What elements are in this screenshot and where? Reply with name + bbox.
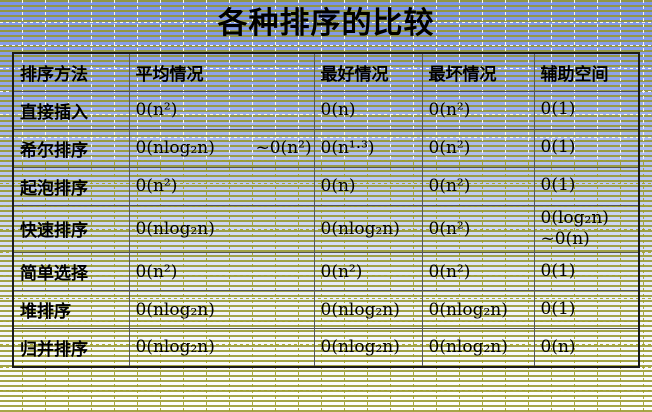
average-primary: 0(n²) [136, 262, 256, 282]
cell-average: 0(nlog₂n)~0(n²) [129, 129, 314, 167]
table-row: 堆排序0(nlog₂n)0(nlog₂n)0(nlog₂n)0(1) [13, 291, 639, 329]
cell-method: 希尔排序 [13, 129, 129, 167]
cell-best: 0(nlog₂n) [314, 291, 422, 329]
slide-title: 各种排序的比较 [0, 4, 652, 44]
cell-best: 0(n¹·³) [314, 129, 422, 167]
cell-best: 0(nlog₂n) [314, 205, 422, 253]
cell-method: 快速排序 [13, 205, 129, 253]
cell-worst: 0(n²) [422, 205, 534, 253]
header-method: 排序方法 [13, 53, 129, 91]
cell-worst: 0(n²) [422, 129, 534, 167]
cell-worst: 0(n²) [422, 253, 534, 291]
header-worst: 最坏情况 [422, 53, 534, 91]
cell-average: 0(nlog₂n) [129, 205, 314, 253]
cell-average: 0(n²) [129, 253, 314, 291]
cell-space: 0(n) [534, 329, 639, 367]
cell-space: 0(1) [534, 167, 639, 205]
cell-space: 0(log₂n)~0(n) [534, 205, 639, 253]
cell-worst: 0(nlog₂n) [422, 329, 534, 367]
cell-space: 0(1) [534, 91, 639, 129]
table-header-row: 排序方法 平均情况 最好情况 最坏情况 辅助空间 [13, 53, 639, 91]
cell-space: 0(1) [534, 253, 639, 291]
slide-canvas: 各种排序的比较 排序方法 平均情况 最好情况 最坏情况 辅助空间 直接插入0(n… [0, 0, 652, 412]
cell-worst: 0(n²) [422, 167, 534, 205]
space-primary: 0(1) [541, 137, 633, 158]
cell-average: 0(nlog₂n) [129, 329, 314, 367]
average-primary: 0(nlog₂n) [136, 300, 256, 320]
cell-method: 直接插入 [13, 91, 129, 129]
cell-worst: 0(n²) [422, 91, 534, 129]
cell-best: 0(n) [314, 167, 422, 205]
cell-space: 0(1) [534, 129, 639, 167]
average-primary: 0(nlog₂n) [136, 337, 256, 357]
cell-average: 0(n²) [129, 91, 314, 129]
table-row: 起泡排序0(n²)0(n)0(n²)0(1) [13, 167, 639, 205]
table-row: 简单选择0(n²)0(n²)0(n²)0(1) [13, 253, 639, 291]
table-body: 直接插入0(n²)0(n)0(n²)0(1)希尔排序0(nlog₂n)~0(n²… [13, 91, 639, 367]
cell-space: 0(1) [534, 291, 639, 329]
space-primary: 0(1) [541, 299, 633, 320]
cell-method: 起泡排序 [13, 167, 129, 205]
space-primary: 0(1) [541, 175, 633, 196]
cell-average: 0(nlog₂n) [129, 291, 314, 329]
cell-average: 0(n²) [129, 167, 314, 205]
header-space: 辅助空间 [534, 53, 639, 91]
average-primary: 0(n²) [136, 176, 256, 196]
cell-method: 归并排序 [13, 329, 129, 367]
space-primary: 0(1) [541, 99, 633, 120]
cell-method: 堆排序 [13, 291, 129, 329]
average-primary: 0(nlog₂n) [136, 138, 256, 158]
sorting-comparison-table: 排序方法 平均情况 最好情况 最坏情况 辅助空间 直接插入0(n²)0(n)0(… [12, 52, 640, 368]
average-primary: 0(n²) [136, 100, 256, 120]
average-alternate: ~0(n²) [256, 138, 312, 158]
space-primary: 0(log₂n) [541, 208, 633, 229]
table-row: 快速排序0(nlog₂n)0(nlog₂n)0(n²)0(log₂n)~0(n) [13, 205, 639, 253]
header-average: 平均情况 [129, 53, 314, 91]
space-primary: 0(n) [541, 337, 633, 358]
table-row: 归并排序0(nlog₂n)0(nlog₂n)0(nlog₂n)0(n) [13, 329, 639, 367]
space-alternate: ~0(n) [541, 229, 633, 250]
cell-best: 0(nlog₂n) [314, 329, 422, 367]
average-primary: 0(nlog₂n) [136, 219, 256, 239]
table-row: 希尔排序0(nlog₂n)~0(n²)0(n¹·³)0(n²)0(1) [13, 129, 639, 167]
table-row: 直接插入0(n²)0(n)0(n²)0(1) [13, 91, 639, 129]
cell-best: 0(n²) [314, 253, 422, 291]
cell-method: 简单选择 [13, 253, 129, 291]
space-primary: 0(1) [541, 261, 633, 282]
header-best: 最好情况 [314, 53, 422, 91]
cell-best: 0(n) [314, 91, 422, 129]
cell-worst: 0(nlog₂n) [422, 291, 534, 329]
